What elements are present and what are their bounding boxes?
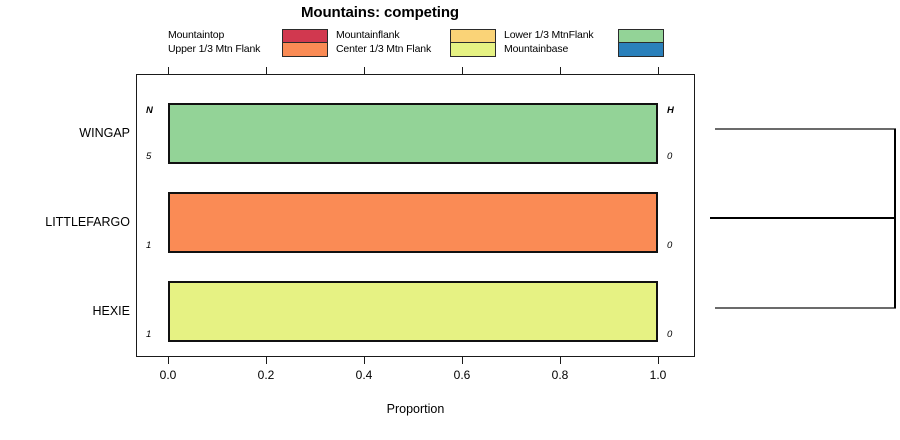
n-value: 5 <box>146 151 151 162</box>
x-tick-label: 0.6 <box>432 368 492 382</box>
legend-swatch-upper-third-mtn-flank <box>283 43 327 56</box>
x-tick-label: 1.0 <box>628 368 688 382</box>
legend-column-1: Mountaintop Upper 1/3 Mtn Flank <box>168 28 336 58</box>
legend-swatch-lower-third-mtn-flank <box>619 30 663 43</box>
x-tick-label: 0.2 <box>236 368 296 382</box>
x-tick-top <box>364 67 365 75</box>
dendrogram-svg <box>700 60 900 360</box>
h-value: 0 <box>667 151 672 162</box>
x-tick <box>560 356 561 364</box>
chart-canvas: Mountains: competing Mountaintop Upper 1… <box>0 0 900 440</box>
legend-labels-2: Mountainflank Center 1/3 Mtn Flank <box>336 28 448 56</box>
legend-swatch-center-third-mtn-flank <box>451 43 495 56</box>
legend-swatch-group-1 <box>282 29 328 57</box>
bar-littlefargo <box>168 192 658 253</box>
y-axis-label-hexie: HEXIE <box>0 304 130 318</box>
legend-item-label: Upper 1/3 Mtn Flank <box>168 42 280 56</box>
legend-swatch-group-3 <box>618 29 664 57</box>
bar-hexie <box>168 281 658 342</box>
legend-swatch-mountainflank <box>451 30 495 43</box>
legend-item-label: Center 1/3 Mtn Flank <box>336 42 448 56</box>
x-tick-label: 0.8 <box>530 368 590 382</box>
legend-item-label: Lower 1/3 MtnFlank <box>504 28 616 42</box>
y-axis-label-littlefargo: LITTLEFARGO <box>0 215 130 229</box>
x-tick <box>266 356 267 364</box>
legend-item-label: Mountainflank <box>336 28 448 42</box>
legend-item-label: Mountaintop <box>168 28 280 42</box>
legend-swatch-group-2 <box>450 29 496 57</box>
n-column-header: N <box>146 105 153 116</box>
dendrogram <box>700 60 900 360</box>
legend-column-3: Lower 1/3 MtnFlank Mountainbase <box>504 28 672 58</box>
x-tick-label: 0.0 <box>138 368 198 382</box>
n-value: 1 <box>146 329 151 340</box>
x-tick <box>462 356 463 364</box>
legend-column-2: Mountainflank Center 1/3 Mtn Flank <box>336 28 504 58</box>
h-value: 0 <box>667 329 672 340</box>
legend-labels-1: Mountaintop Upper 1/3 Mtn Flank <box>168 28 280 56</box>
x-axis-title: Proportion <box>136 402 695 416</box>
legend-swatch-mountainbase <box>619 43 663 56</box>
x-tick <box>364 356 365 364</box>
x-tick <box>168 356 169 364</box>
x-tick-top <box>266 67 267 75</box>
bar-wingap <box>168 103 658 164</box>
y-axis-label-wingap: WINGAP <box>0 126 130 140</box>
h-value: 0 <box>667 240 672 251</box>
x-tick-top <box>560 67 561 75</box>
x-tick-top <box>658 67 659 75</box>
x-tick-top <box>168 67 169 75</box>
chart-legend: Mountaintop Upper 1/3 Mtn Flank Mountain… <box>168 28 688 58</box>
x-tick-top <box>462 67 463 75</box>
n-value: 1 <box>146 240 151 251</box>
legend-item-label: Mountainbase <box>504 42 616 56</box>
legend-labels-3: Lower 1/3 MtnFlank Mountainbase <box>504 28 616 56</box>
y-axis-labels: WINGAPLITTLEFARGOHEXIE <box>0 0 130 440</box>
h-column-header: H <box>667 105 674 116</box>
x-tick-label: 0.4 <box>334 368 394 382</box>
x-tick <box>658 356 659 364</box>
legend-swatch-mountaintop <box>283 30 327 43</box>
